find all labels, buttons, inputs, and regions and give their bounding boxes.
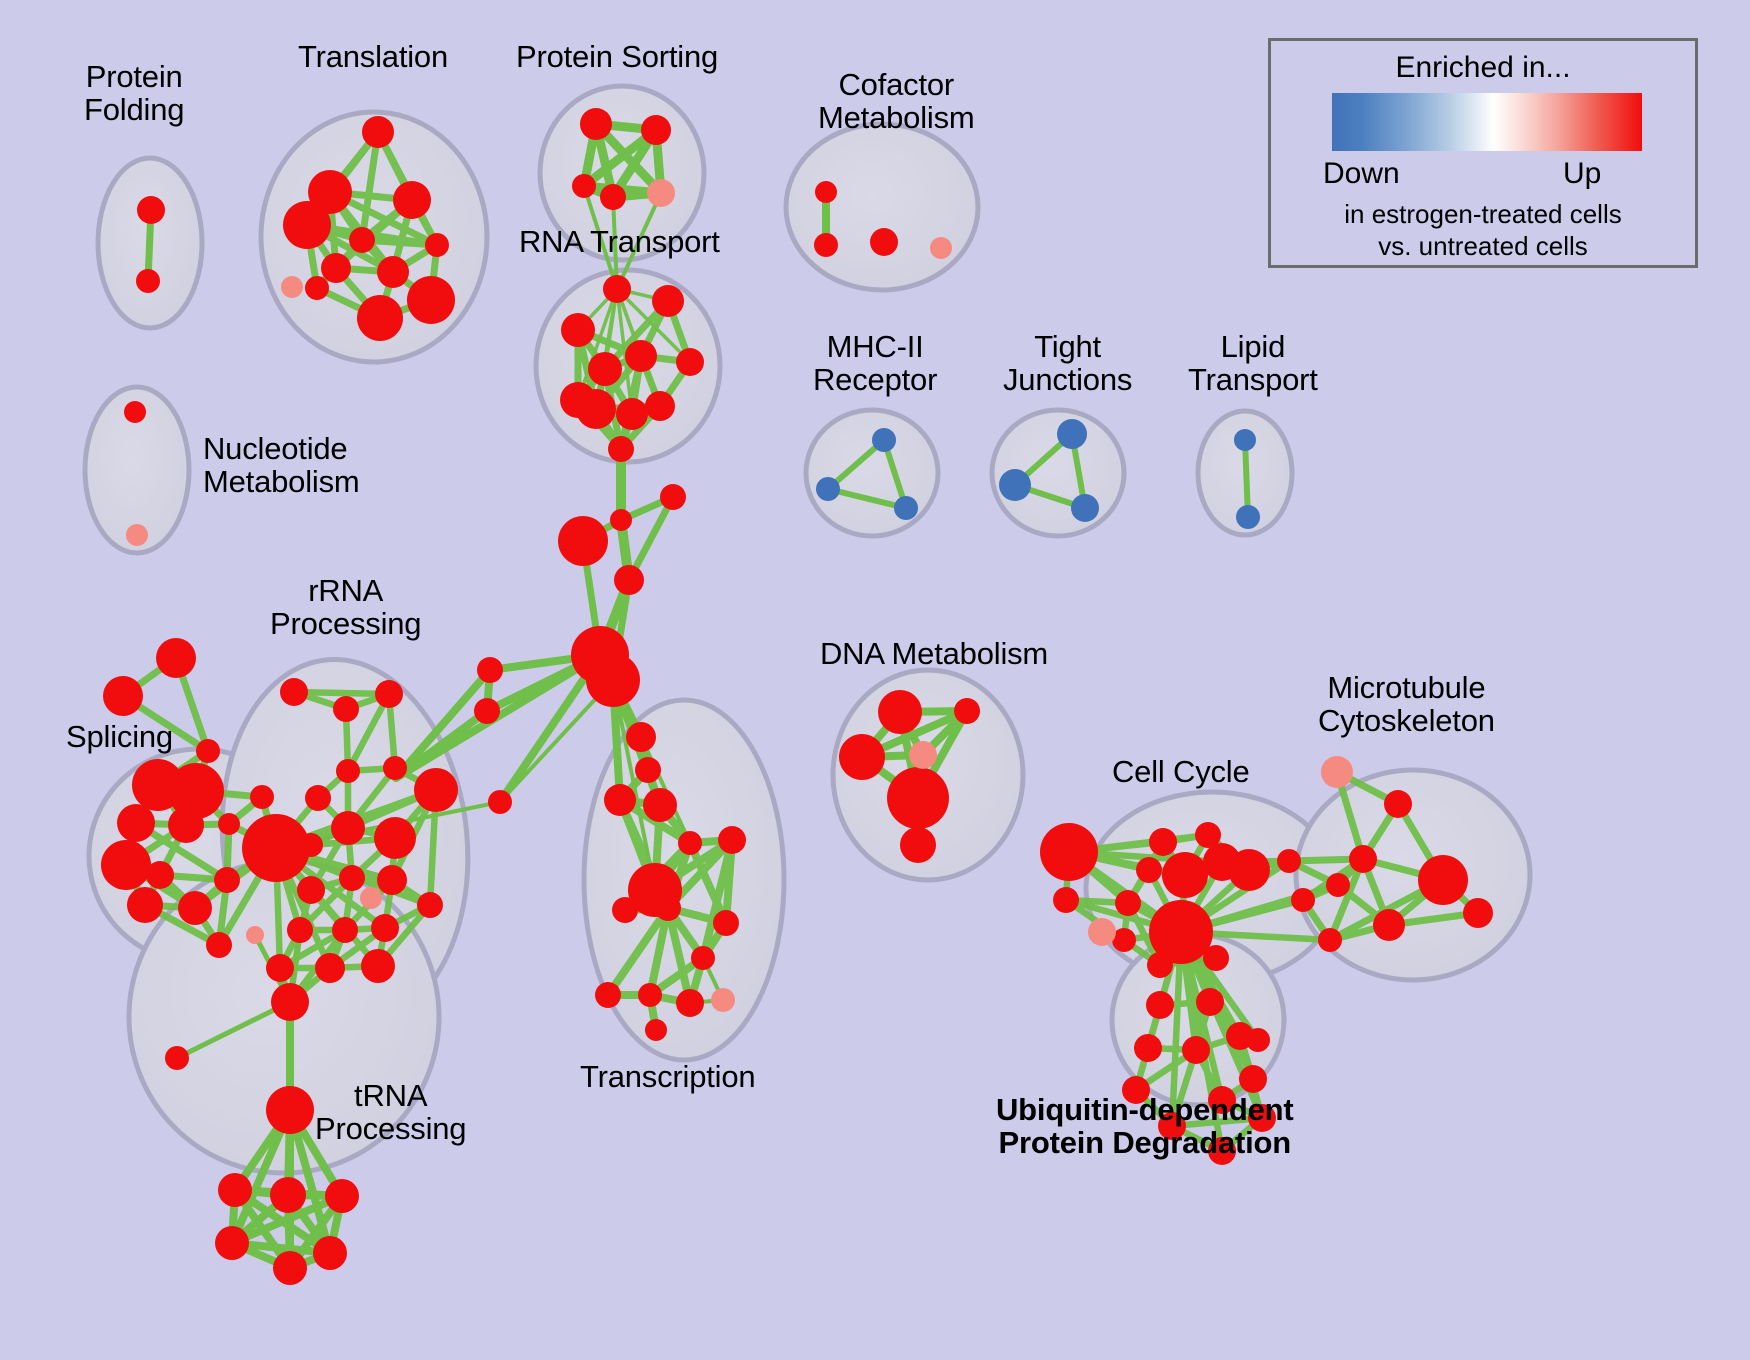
cluster-label-cofactor-metabolism: Cofactor Metabolism: [818, 68, 975, 135]
cluster-label-rna-transport: RNA Transport: [519, 225, 720, 258]
cluster-label-protein-sorting: Protein Sorting: [516, 40, 718, 73]
cluster-label-splicing: Splicing: [66, 720, 173, 753]
cluster-label-ubiquitin-degradation: Ubiquitin-dependent Protein Degradation: [996, 1093, 1294, 1160]
cluster-label-protein-folding: Protein Folding: [84, 60, 184, 127]
legend-color-gradient-bar: [1332, 93, 1642, 151]
cluster-label-lipid-transport: Lipid Transport: [1188, 330, 1318, 397]
enrichment-map-figure: Protein Folding Translation Protein Sort…: [0, 0, 1750, 1360]
legend-subtitle-line-1: in estrogen-treated cells: [1271, 199, 1695, 230]
cluster-label-mhc-ii-receptor: MHC-II Receptor: [813, 330, 937, 397]
cluster-label-trna-processing: tRNA Processing: [315, 1079, 466, 1146]
legend-panel: Enriched in... Down Up in estrogen-treat…: [1268, 38, 1698, 268]
cluster-label-dna-metabolism: DNA Metabolism: [820, 637, 1048, 670]
legend-up-label: Up: [1563, 157, 1601, 191]
cluster-label-translation: Translation: [298, 40, 448, 73]
hull-cofactor-metabolism: [786, 124, 978, 290]
legend-subtitle-line-2: vs. untreated cells: [1271, 231, 1695, 262]
cluster-label-transcription: Transcription: [580, 1060, 755, 1093]
cluster-label-rrna-processing: rRNA Processing: [270, 574, 421, 641]
cluster-label-microtubule-cytoskeleton: Microtubule Cytoskeleton: [1318, 671, 1495, 738]
hull-mhc-ii-receptor: [806, 410, 938, 536]
legend-down-label: Down: [1323, 157, 1400, 191]
cluster-label-cell-cycle: Cell Cycle: [1112, 755, 1250, 788]
cluster-label-tight-junctions: Tight Junctions: [1003, 330, 1132, 397]
cluster-label-nucleotide-metabolism: Nucleotide Metabolism: [203, 432, 360, 499]
legend-title: Enriched in...: [1271, 51, 1695, 85]
